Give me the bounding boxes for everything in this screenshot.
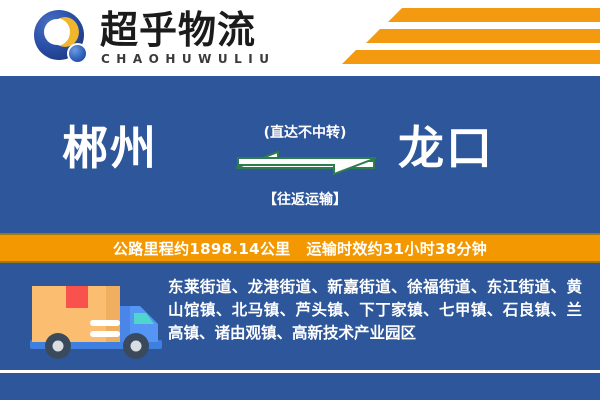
- origin-city: 郴州: [62, 122, 158, 174]
- distance-text: 公路里程约1898.14公里: [113, 238, 291, 259]
- banner-header: 超乎物流 CHAOHUWULIU: [0, 0, 600, 76]
- orange-speed-stripes-icon: [340, 8, 600, 68]
- route-info-bar: 公路里程约1898.14公里 运输时效约31小时38分钟: [0, 233, 600, 263]
- coverage-area-list: 东莱街道、龙港街道、新嘉街道、徐福街道、东江街道、黄山馆镇、北马镇、芦头镇、下丁…: [168, 276, 582, 345]
- stripe-middle: [366, 29, 600, 43]
- stripe-bottom: [342, 50, 600, 64]
- footer-divider: [0, 370, 600, 373]
- duration-text: 运输时效约31小时38分钟: [306, 238, 487, 259]
- bidirectional-arrow-icon: [236, 146, 376, 180]
- logo-accent-dot: [67, 43, 88, 64]
- round-trip-note: 【往返运输】: [230, 189, 380, 209]
- direct-service-note: (直达不中转): [230, 122, 380, 142]
- logistics-route-banner: 超乎物流 CHAOHUWULIU 郴州 (直达不中转) 【往返运输】 龙口 公路…: [0, 0, 600, 400]
- delivery-truck-icon: [28, 280, 166, 364]
- brand-name-chinese: 超乎物流: [100, 9, 256, 51]
- destination-city: 龙口: [398, 122, 494, 174]
- stripe-top: [388, 8, 600, 22]
- circle-q-logo-icon: [34, 10, 96, 66]
- brand-name-pinyin: CHAOHUWULIU: [101, 52, 275, 66]
